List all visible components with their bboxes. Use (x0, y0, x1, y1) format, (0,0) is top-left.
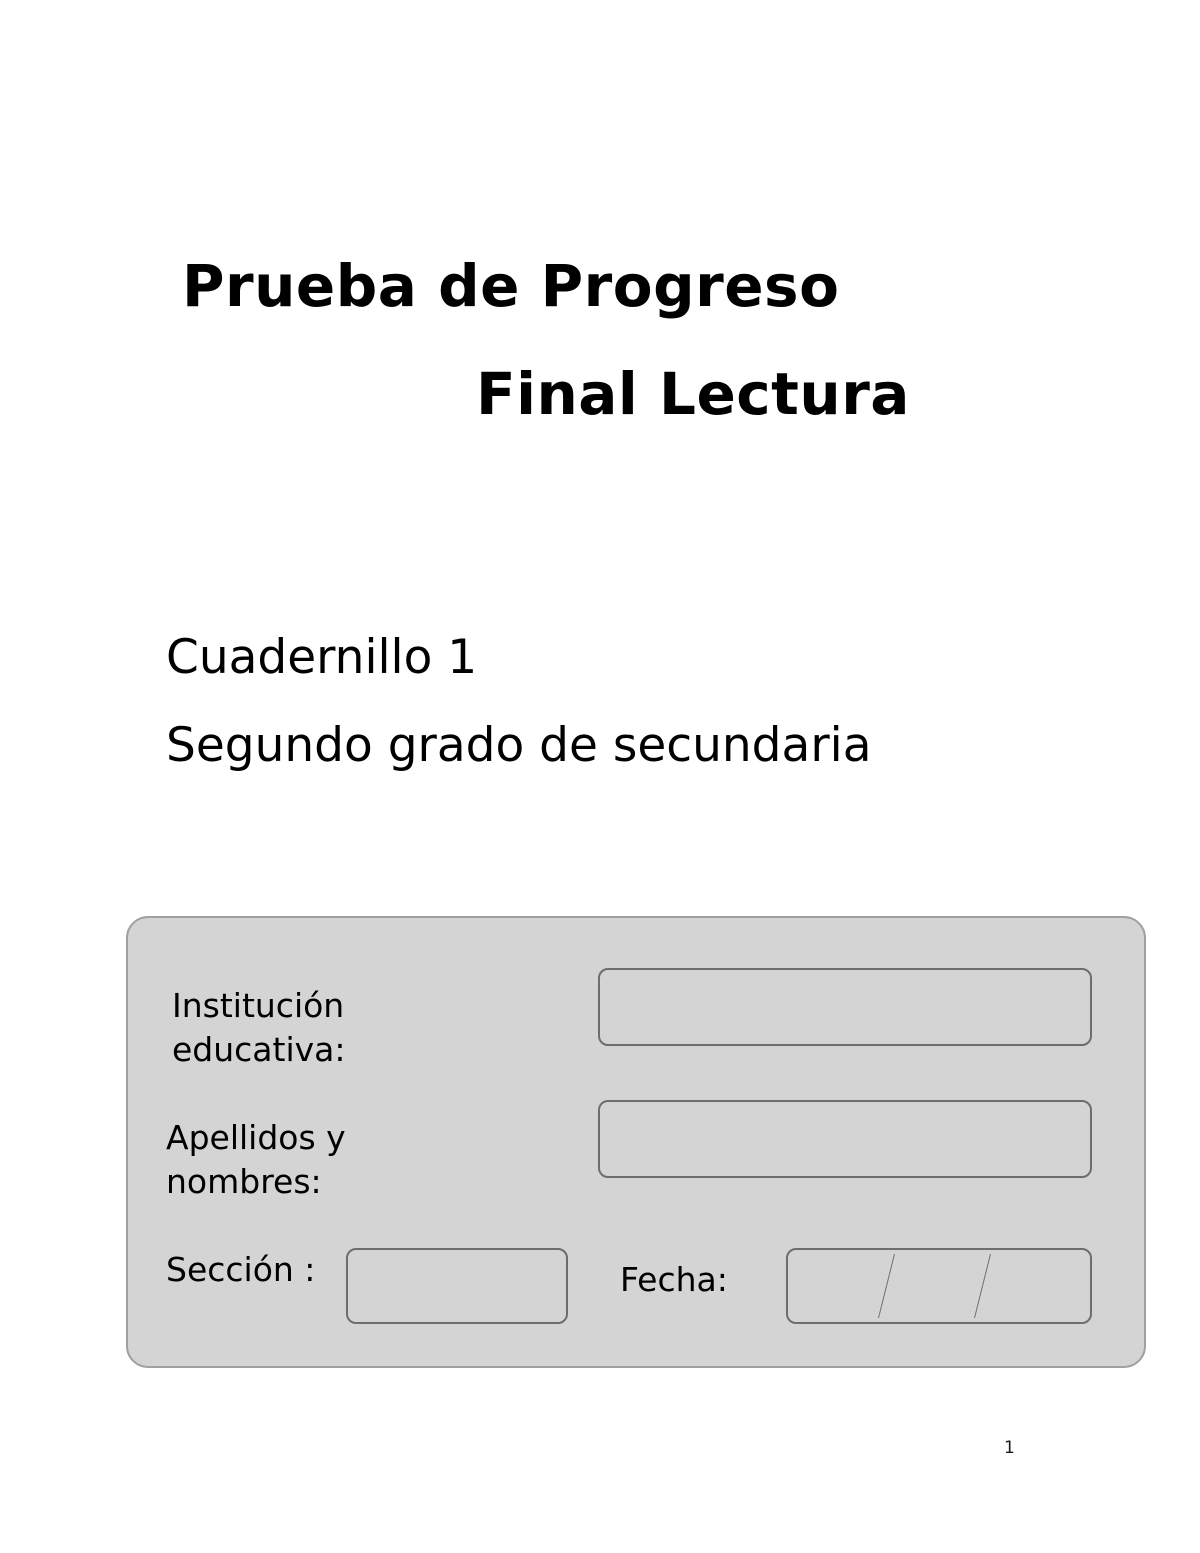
document-page: Prueba de Progreso Final Lectura Cuadern… (0, 0, 1200, 1553)
document-title: Prueba de Progreso Final Lectura (0, 232, 1010, 448)
subtitle-booklet: Cuadernillo 1 (166, 614, 1066, 702)
seccion-label: Sección : (166, 1248, 346, 1292)
title-line-2: Final Lectura (0, 340, 1010, 448)
fecha-input[interactable] (786, 1248, 1092, 1324)
title-line-1: Prueba de Progreso (0, 232, 1010, 340)
date-separator-slash-icon (974, 1254, 991, 1318)
page-number: 1 (1004, 1438, 1015, 1458)
apellidos-y-nombres-input[interactable] (598, 1100, 1092, 1178)
institucion-educativa-label: Institución educativa: (172, 984, 412, 1072)
student-info-card: Institución educativa: Apellidos y nombr… (126, 916, 1146, 1368)
institucion-educativa-input[interactable] (598, 968, 1092, 1046)
seccion-input[interactable] (346, 1248, 568, 1324)
document-subtitle: Cuadernillo 1 Segundo grado de secundari… (166, 614, 1066, 790)
subtitle-grade: Segundo grado de secundaria (166, 702, 1066, 790)
apellidos-y-nombres-label: Apellidos y nombres: (166, 1116, 406, 1204)
date-separator-slash-icon (878, 1254, 895, 1318)
